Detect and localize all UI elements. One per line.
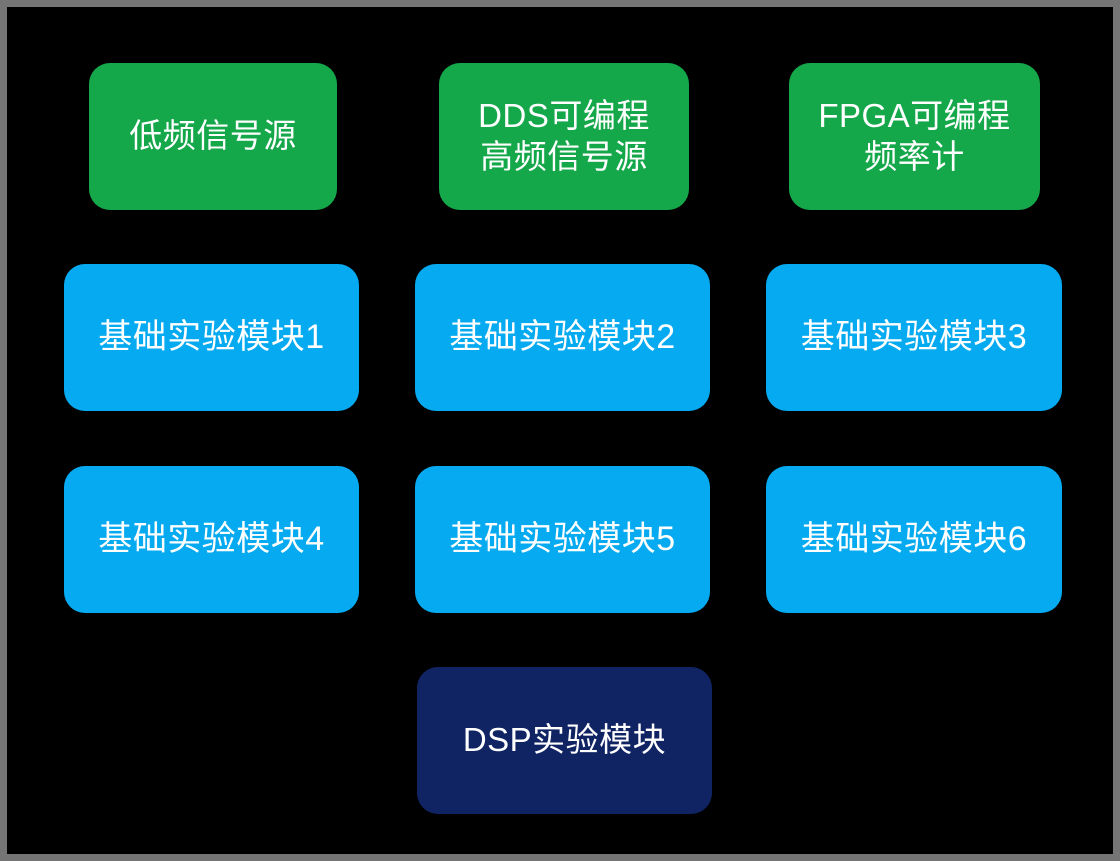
node-dds-hf-source-label: DDS可编程 高频信号源 (439, 96, 689, 177)
node-low-freq-source[interactable]: 低频信号源 (89, 63, 337, 210)
node-basic-module-2[interactable]: 基础实验模块2 (415, 264, 710, 411)
node-basic-module-6-label: 基础实验模块6 (766, 519, 1062, 560)
node-basic-module-6[interactable]: 基础实验模块6 (766, 466, 1062, 613)
node-dsp-module-label: DSP实验模块 (417, 720, 712, 760)
diagram-canvas: 低频信号源 DDS可编程 高频信号源 FPGA可编程 频率计 基础实验模块1 基… (0, 0, 1120, 861)
node-basic-module-5[interactable]: 基础实验模块5 (415, 466, 710, 613)
node-fpga-freq-counter[interactable]: FPGA可编程 频率计 (789, 63, 1040, 210)
node-basic-module-4-label: 基础实验模块4 (64, 519, 359, 560)
node-fpga-freq-counter-label: FPGA可编程 频率计 (789, 96, 1040, 177)
node-basic-module-5-label: 基础实验模块5 (415, 519, 710, 560)
node-basic-module-3[interactable]: 基础实验模块3 (766, 264, 1062, 411)
node-dds-hf-source[interactable]: DDS可编程 高频信号源 (439, 63, 689, 210)
node-basic-module-3-label: 基础实验模块3 (766, 317, 1062, 358)
node-basic-module-1[interactable]: 基础实验模块1 (64, 264, 359, 411)
node-low-freq-source-label: 低频信号源 (89, 116, 337, 156)
node-dsp-module[interactable]: DSP实验模块 (417, 667, 712, 814)
node-basic-module-4[interactable]: 基础实验模块4 (64, 466, 359, 613)
node-basic-module-1-label: 基础实验模块1 (64, 317, 359, 358)
node-basic-module-2-label: 基础实验模块2 (415, 317, 710, 358)
